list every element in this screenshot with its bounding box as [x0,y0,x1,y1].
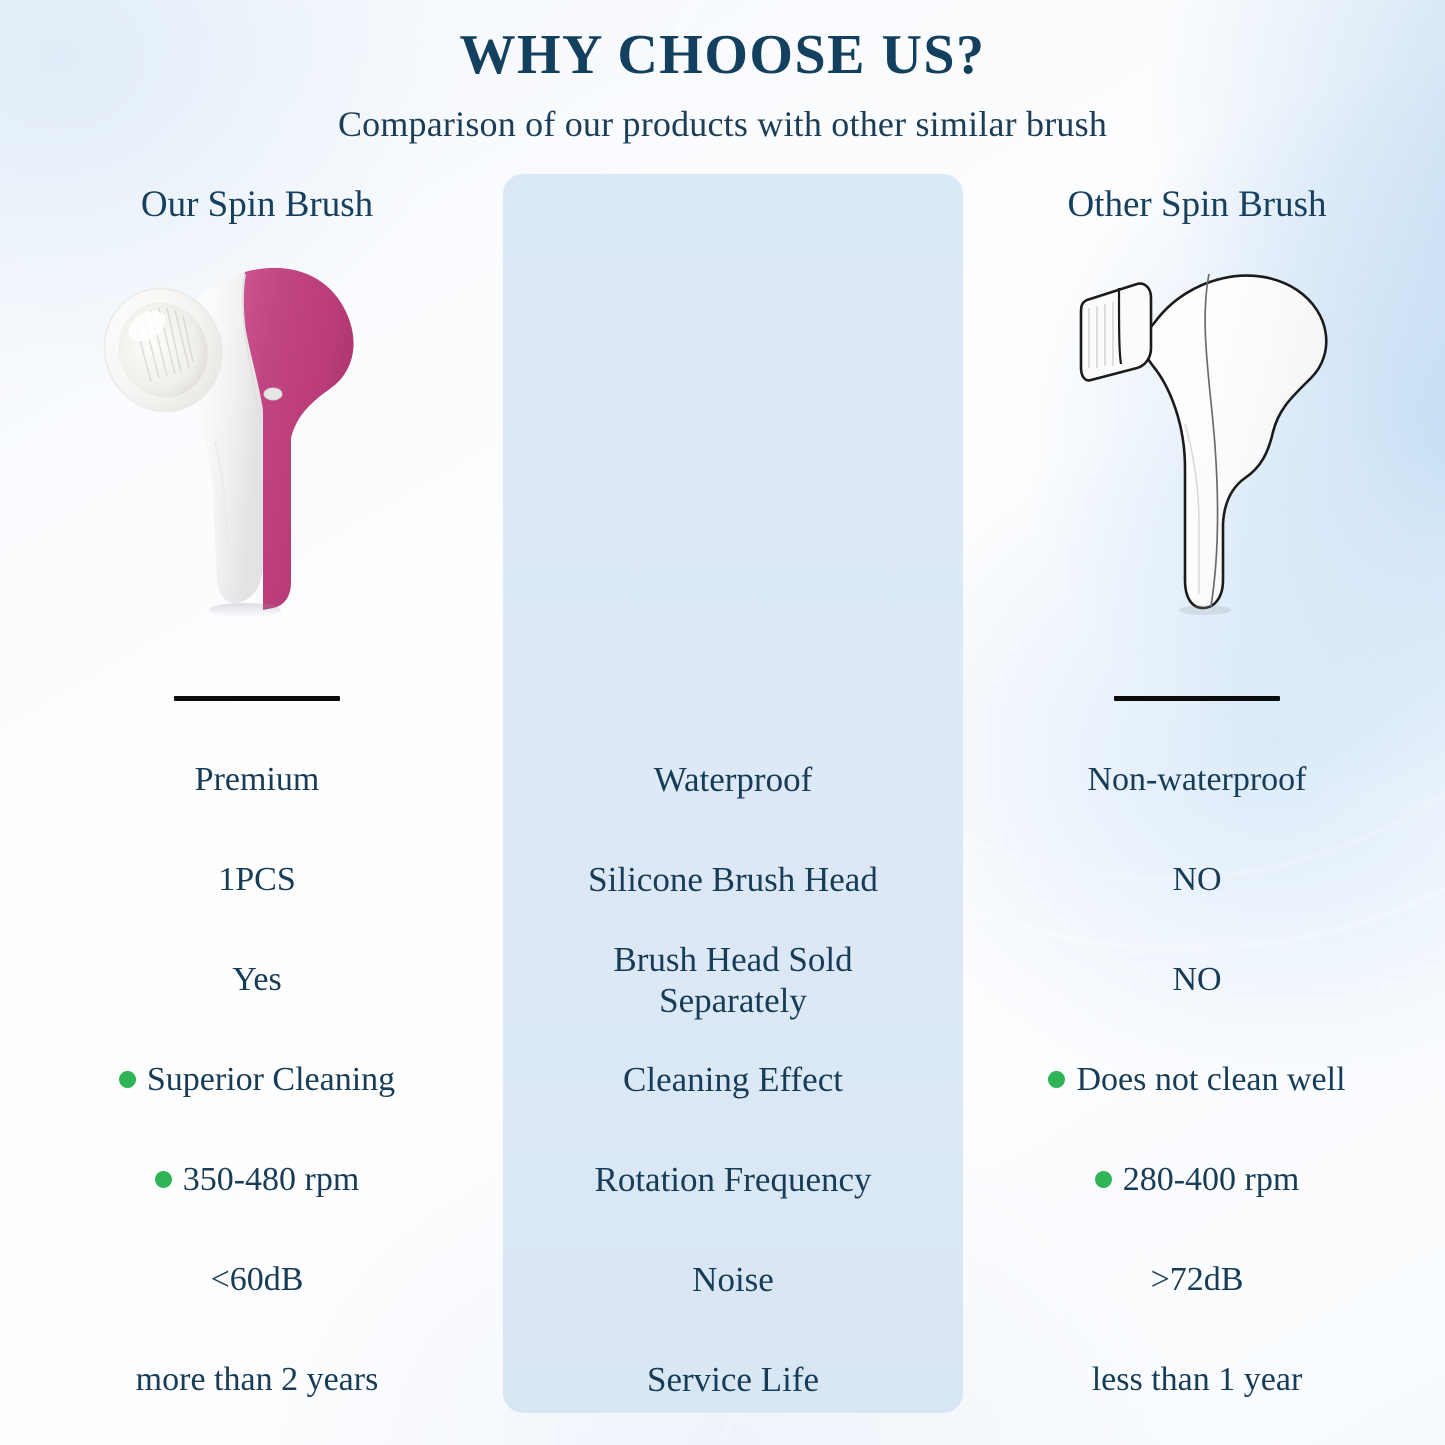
value-row: <60dB [22,1230,492,1330]
product-shadow [209,603,281,617]
value-cell-other: Non-waterproof [1081,760,1312,800]
other-spin-brush-image [1059,256,1359,626]
feature-row: Rotation Frequency [498,1130,968,1230]
value-cell-other: 280-400 rpm [1089,1160,1306,1200]
feature-cell: Rotation Frequency [588,1159,877,1200]
feature-cell: Silicone Brush Head [582,859,884,900]
feature-row: Service Life [498,1330,968,1430]
value-cell-other: Does not clean well [1042,1060,1351,1100]
feature-cell: Waterproof [648,759,819,800]
value-cell-ours: more than 2 years [130,1360,385,1400]
bullet-icon [1095,1171,1112,1188]
feature-row: Silicone Brush Head [498,830,968,930]
feature-row: Brush Head Sold Separately [498,930,968,1030]
value-cell-ours: 350-480 rpm [149,1160,366,1200]
feature-list: Waterproof Silicone Brush Head Brush Hea… [498,730,968,1430]
our-spin-brush-image [95,242,395,622]
value-row: NO [962,930,1432,1030]
middle-image-spacer [498,242,968,682]
column-header-middle-spacer [498,174,968,236]
value-text: NO [1172,860,1221,900]
value-row: >72dB [962,1230,1432,1330]
column-header-other: Other Spin Brush [962,174,1432,236]
other-brush-head-collar [1081,284,1151,381]
value-text: less than 1 year [1092,1360,1303,1400]
values-list-other: Non-waterproof NO NO Does not clean well… [962,730,1432,1430]
value-row: less than 1 year [962,1330,1432,1430]
divider-other-wrap [962,682,1432,716]
values-list-ours: Premium 1PCS Yes Superior Cleaning 350-4… [22,730,492,1430]
value-cell-ours: 1PCS [212,860,302,900]
value-text: Non-waterproof [1087,760,1306,800]
feature-row: Noise [498,1230,968,1330]
value-cell-ours: <60dB [205,1260,310,1300]
value-text: Premium [195,760,320,800]
value-cell-ours: Superior Cleaning [113,1060,401,1100]
divider-other [1114,696,1280,701]
divider-ours [174,696,340,701]
value-row: Superior Cleaning [22,1030,492,1130]
value-text: Does not clean well [1076,1060,1345,1100]
feature-cell: Noise [686,1259,780,1300]
feature-row: Waterproof [498,730,968,830]
value-text: >72dB [1151,1260,1244,1300]
value-text: 350-480 rpm [183,1160,360,1200]
value-row: 350-480 rpm [22,1130,492,1230]
product-image-other-area [962,242,1432,682]
value-text: 280-400 rpm [1123,1160,1300,1200]
feature-row: Cleaning Effect [498,1030,968,1130]
other-brush-body [1143,276,1326,608]
feature-cell: Brush Head Sold Separately [607,939,858,1022]
value-cell-ours: Premium [189,760,326,800]
middle-divider-spacer [498,682,968,716]
bullet-icon [155,1171,172,1188]
column-feature-labels: Waterproof Silicone Brush Head Brush Hea… [498,174,968,1430]
value-row: 280-400 rpm [962,1130,1432,1230]
value-row: NO [962,830,1432,930]
value-cell-ours: Yes [226,960,287,1000]
page-title: WHY CHOOSE US? [0,26,1445,85]
value-cell-other: NO [1166,860,1227,900]
column-header-ours: Our Spin Brush [22,174,492,236]
feature-cell: Cleaning Effect [617,1059,849,1100]
power-button-icon [264,388,282,400]
value-row: Yes [22,930,492,1030]
value-text: Superior Cleaning [147,1060,395,1100]
value-row: Does not clean well [962,1030,1432,1130]
page-header: WHY CHOOSE US? Comparison of our product… [0,26,1445,145]
value-row: Non-waterproof [962,730,1432,830]
value-cell-other: NO [1166,960,1227,1000]
value-cell-other: less than 1 year [1086,1360,1309,1400]
value-row: 1PCS [22,830,492,930]
value-text: Yes [232,960,281,1000]
bullet-icon [1048,1071,1065,1088]
product-image-ours-area [22,242,492,682]
value-text: <60dB [211,1260,304,1300]
value-text: NO [1172,960,1221,1000]
other-product-shadow [1179,605,1231,615]
value-text: 1PCS [218,860,296,900]
value-row: more than 2 years [22,1330,492,1430]
value-cell-other: >72dB [1145,1260,1250,1300]
column-other-spin-brush: Other Spin Brush [962,174,1432,1430]
page-subtitle: Comparison of our products with other si… [0,103,1445,145]
feature-cell: Service Life [641,1359,825,1400]
value-row: Premium [22,730,492,830]
value-text: more than 2 years [136,1360,379,1400]
bullet-icon [119,1071,136,1088]
column-our-spin-brush: Our Spin Brush [22,174,492,1430]
divider-ours-wrap [22,682,492,716]
